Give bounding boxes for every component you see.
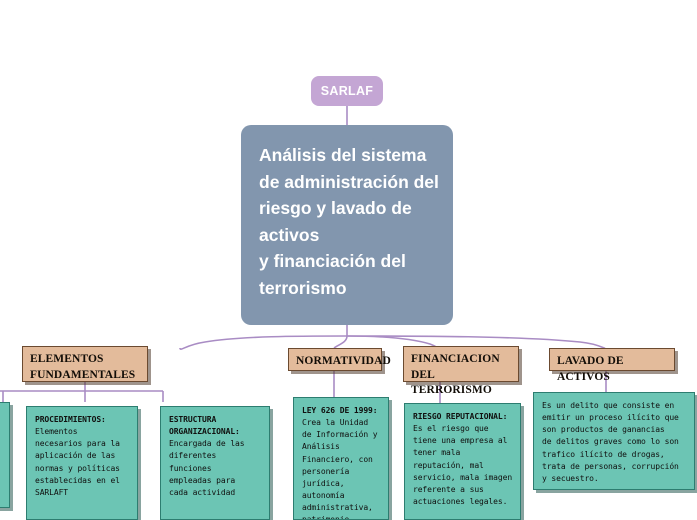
leaf-body-riesgo-reputacional: Es el riesgo que tiene una empresa al te… [413, 423, 513, 508]
leaf-body-lavado-definicion: Es un delito que consiste en emitir un p… [542, 400, 687, 485]
leaf-body-procedimientos: Elementos necesarios para la aplicación … [35, 426, 130, 499]
category-label-normatividad: NORMATIVIDAD [296, 354, 374, 370]
category-node-financiacion-del-terrorismo[interactable]: FINANCIACION DEL TERRORISMO [403, 346, 519, 382]
central-topic-title: Análisis del sistema de administración d… [259, 142, 453, 302]
leaf-node-procedimientos[interactable]: PROCEDIMIENTOS: Elementos necesarios par… [26, 406, 138, 520]
connector-to-normatividad [334, 336, 347, 348]
leaf-node-ley-626[interactable]: LEY 626 DE 1999: Crea la Unidad de Infor… [293, 397, 389, 520]
leaf-node-riesgo-reputacional[interactable]: RIESGO REPUTACIONAL: Es el riesgo que ti… [404, 403, 521, 520]
category-node-elementos-fundamentales[interactable]: ELEMENTOS FUNDAMENTALES [22, 346, 148, 382]
leaf-node-clipped-left[interactable] [0, 402, 10, 508]
category-label-financiacion-del-terrorismo: FINANCIACION DEL TERRORISMO [411, 352, 511, 399]
leaf-title-estructura-organizacional: ESTRUCTURA ORGANIZACIONAL: [169, 414, 262, 438]
category-label-lavado-de-activos: LAVADO DE ACTIVOS [557, 354, 667, 385]
leaf-body-ley-626: Crea la Unidad de Información y Análisis… [302, 417, 381, 520]
root-node-sarlaf[interactable]: SARLAF [311, 76, 383, 106]
leaf-node-lavado-definicion[interactable]: Es un delito que consiste en emitir un p… [533, 392, 695, 490]
leaf-title-ley-626: LEY 626 DE 1999: [302, 405, 381, 417]
mindmap-canvas: SARLAF Análisis del sistema de administr… [0, 0, 697, 520]
leaf-body-estructura-organizacional: Encargada de las diferentes funciones em… [169, 438, 262, 499]
root-node-label: SARLAF [321, 84, 374, 98]
leaf-title-riesgo-reputacional: RIESGO REPUTACIONAL: [413, 411, 513, 423]
category-node-normatividad[interactable]: NORMATIVIDAD [288, 348, 382, 371]
central-topic-node[interactable]: Análisis del sistema de administración d… [241, 125, 453, 325]
leaf-title-procedimientos: PROCEDIMIENTOS: [35, 414, 130, 426]
category-node-lavado-de-activos[interactable]: LAVADO DE ACTIVOS [549, 348, 675, 371]
category-label-elementos-fundamentales: ELEMENTOS FUNDAMENTALES [30, 352, 140, 383]
leaf-node-estructura-organizacional[interactable]: ESTRUCTURA ORGANIZACIONAL: Encargada de … [160, 406, 270, 520]
